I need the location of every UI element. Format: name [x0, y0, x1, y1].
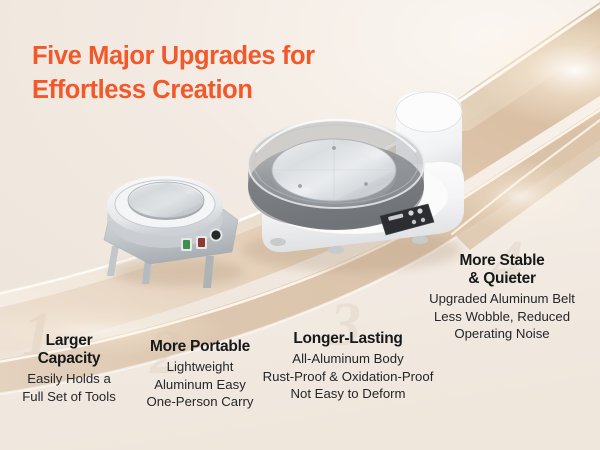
feature-larger-capacity: Larger Capacity Easily Holds a Full Set …	[8, 332, 130, 405]
panel-button-3	[412, 220, 416, 224]
page-title: Five Major Upgrades for Effortless Creat…	[32, 40, 432, 107]
black-knob-icon	[211, 230, 220, 239]
panel-button-2	[417, 208, 422, 213]
feature-more-portable: More Portable Lightweight Aluminum Easy …	[132, 338, 268, 411]
feature-body: All-Aluminum Body Rust-Proof & Oxidation…	[258, 350, 438, 403]
promo-banner: 1 2 3 4	[0, 0, 600, 450]
small-pottery-wheel	[104, 176, 244, 288]
feature-body: Lightweight Aluminum Easy One-Person Car…	[132, 358, 268, 411]
feature-body: Upgraded Aluminum Belt Less Wobble, Redu…	[404, 290, 600, 343]
feature-more-stable-quieter: More Stable & Quieter Upgraded Aluminum …	[404, 252, 600, 343]
panel-button-1	[408, 210, 413, 215]
red-switch-icon	[198, 238, 205, 247]
feature-body: Easily Holds a Full Set of Tools	[8, 370, 130, 405]
panel-button-4	[421, 218, 425, 222]
green-switch-icon	[183, 240, 190, 249]
feature-heading: More Stable & Quieter	[404, 252, 600, 288]
feature-heading: More Portable	[132, 338, 268, 356]
feature-heading: Larger Capacity	[8, 332, 130, 368]
